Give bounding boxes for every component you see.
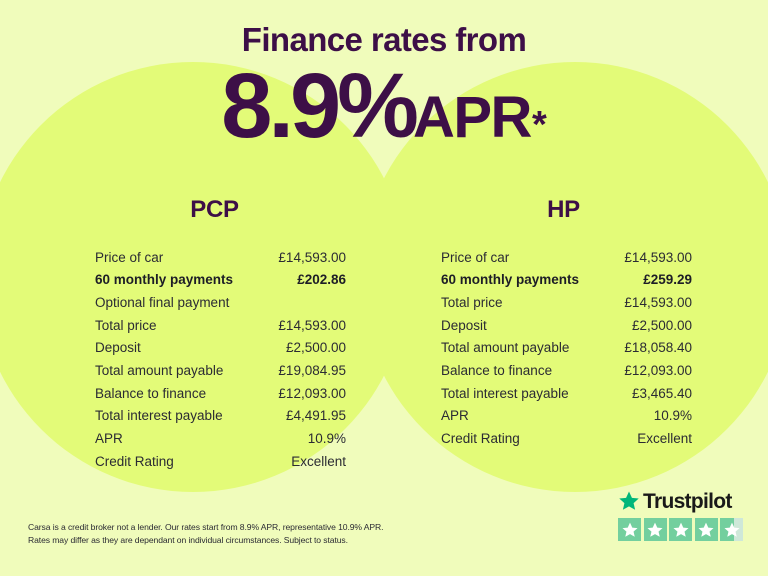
legal-disclaimer: Carsa is a credit broker not a lender. O… [28,521,458,548]
plan-card-pcp: PCP Price of car£14,593.0060 monthly pay… [0,196,384,473]
row-value: £202.86 [297,273,346,287]
row-value: £14,593.00 [278,251,346,265]
trustpilot-star-icon [618,490,640,512]
trustpilot-star-4 [695,518,718,541]
trustpilot-star-5 [720,518,743,541]
table-row: Price of car£14,593.00 [441,246,692,269]
table-row: 60 monthly payments£202.86 [95,269,346,292]
table-row: Total interest payable£3,465.40 [441,382,692,405]
plan-rows-pcp: Price of car£14,593.0060 monthly payment… [95,246,346,473]
table-row: Total price£14,593.00 [95,314,346,337]
table-row: 60 monthly payments£259.29 [441,269,692,292]
row-label: Total interest payable [95,409,223,423]
trustpilot-star-3 [669,518,692,541]
row-value: 10.9% [654,409,692,423]
disclaimer-line-1: Carsa is a credit broker not a lender. O… [28,521,458,534]
table-row: APR10.9% [95,428,346,451]
disclaimer-line-2: Rates may differ as they are dependant o… [28,534,458,547]
plan-card-hp: HP Price of car£14,593.0060 monthly paym… [384,196,768,473]
table-row: Price of car£14,593.00 [95,246,346,269]
row-value: 10.9% [308,432,346,446]
row-value: £12,093.00 [278,387,346,401]
finance-comparison: PCP Price of car£14,593.0060 monthly pay… [0,196,768,473]
row-label: Total amount payable [441,341,569,355]
trustpilot-badge[interactable]: Trustpilot [618,489,750,541]
row-value: £14,593.00 [278,319,346,333]
plan-title-pcp: PCP [95,196,346,224]
row-label: Total price [95,319,157,333]
row-value: £2,500.00 [286,341,346,355]
plan-rows-hp: Price of car£14,593.0060 monthly payment… [441,246,692,450]
row-label: Deposit [441,319,487,333]
row-value: £14,593.00 [624,251,692,265]
row-value: £12,093.00 [624,364,692,378]
row-label: Balance to finance [95,387,206,401]
star-glyph-icon [698,521,715,538]
row-label: 60 monthly payments [95,273,233,287]
poster-canvas: Finance rates from 8.9% APR * PCP Price … [0,0,768,576]
row-value: Excellent [637,432,692,446]
row-value: £18,058.40 [624,341,692,355]
trustpilot-star-1 [618,518,641,541]
trustpilot-star-2 [644,518,667,541]
row-label: Price of car [441,251,509,265]
row-label: APR [441,409,469,423]
table-row: Credit RatingExcellent [95,450,346,473]
row-label: APR [95,432,123,446]
trustpilot-wordmark: Trustpilot [618,489,750,513]
row-value: £19,084.95 [278,364,346,378]
star-glyph-icon [672,521,689,538]
table-row: Deposit£2,500.00 [95,337,346,360]
star-glyph-icon [647,521,664,538]
header: Finance rates from 8.9% APR * [0,0,768,152]
table-row: Total amount payable£19,084.95 [95,359,346,382]
row-value: Excellent [291,455,346,469]
row-label: Optional final payment [95,296,229,310]
table-row: Balance to finance£12,093.00 [95,382,346,405]
table-row: Optional final payment [95,291,346,314]
trustpilot-name: Trustpilot [643,491,732,512]
row-label: Price of car [95,251,163,265]
row-label: Total interest payable [441,387,569,401]
row-label: Credit Rating [95,455,174,469]
rate-headline: 8.9% APR * [0,58,768,152]
row-label: Total price [441,296,503,310]
rate-value: 8.9% [221,60,415,152]
table-row: Total interest payable£4,491.95 [95,405,346,428]
row-label: Credit Rating [441,432,520,446]
asterisk-marker: * [532,106,547,144]
row-label: 60 monthly payments [441,273,579,287]
table-row: Balance to finance£12,093.00 [441,359,692,382]
table-row: Total amount payable£18,058.40 [441,337,692,360]
table-row: Total price£14,593.00 [441,291,692,314]
table-row: APR10.9% [441,405,692,428]
table-row: Deposit£2,500.00 [441,314,692,337]
row-value: £4,491.95 [286,409,346,423]
row-value: £14,593.00 [624,296,692,310]
row-label: Total amount payable [95,364,223,378]
plan-title-hp: HP [441,196,692,224]
star-glyph-icon [723,521,740,538]
row-label: Balance to finance [441,364,552,378]
row-value: £2,500.00 [632,319,692,333]
table-row: Credit RatingExcellent [441,428,692,451]
row-label: Deposit [95,341,141,355]
star-glyph-icon [621,521,638,538]
page-title: Finance rates from [0,0,768,58]
row-value: £259.29 [643,273,692,287]
row-value: £3,465.40 [632,387,692,401]
trustpilot-rating-stars [618,518,750,541]
rate-unit: APR [413,89,531,147]
